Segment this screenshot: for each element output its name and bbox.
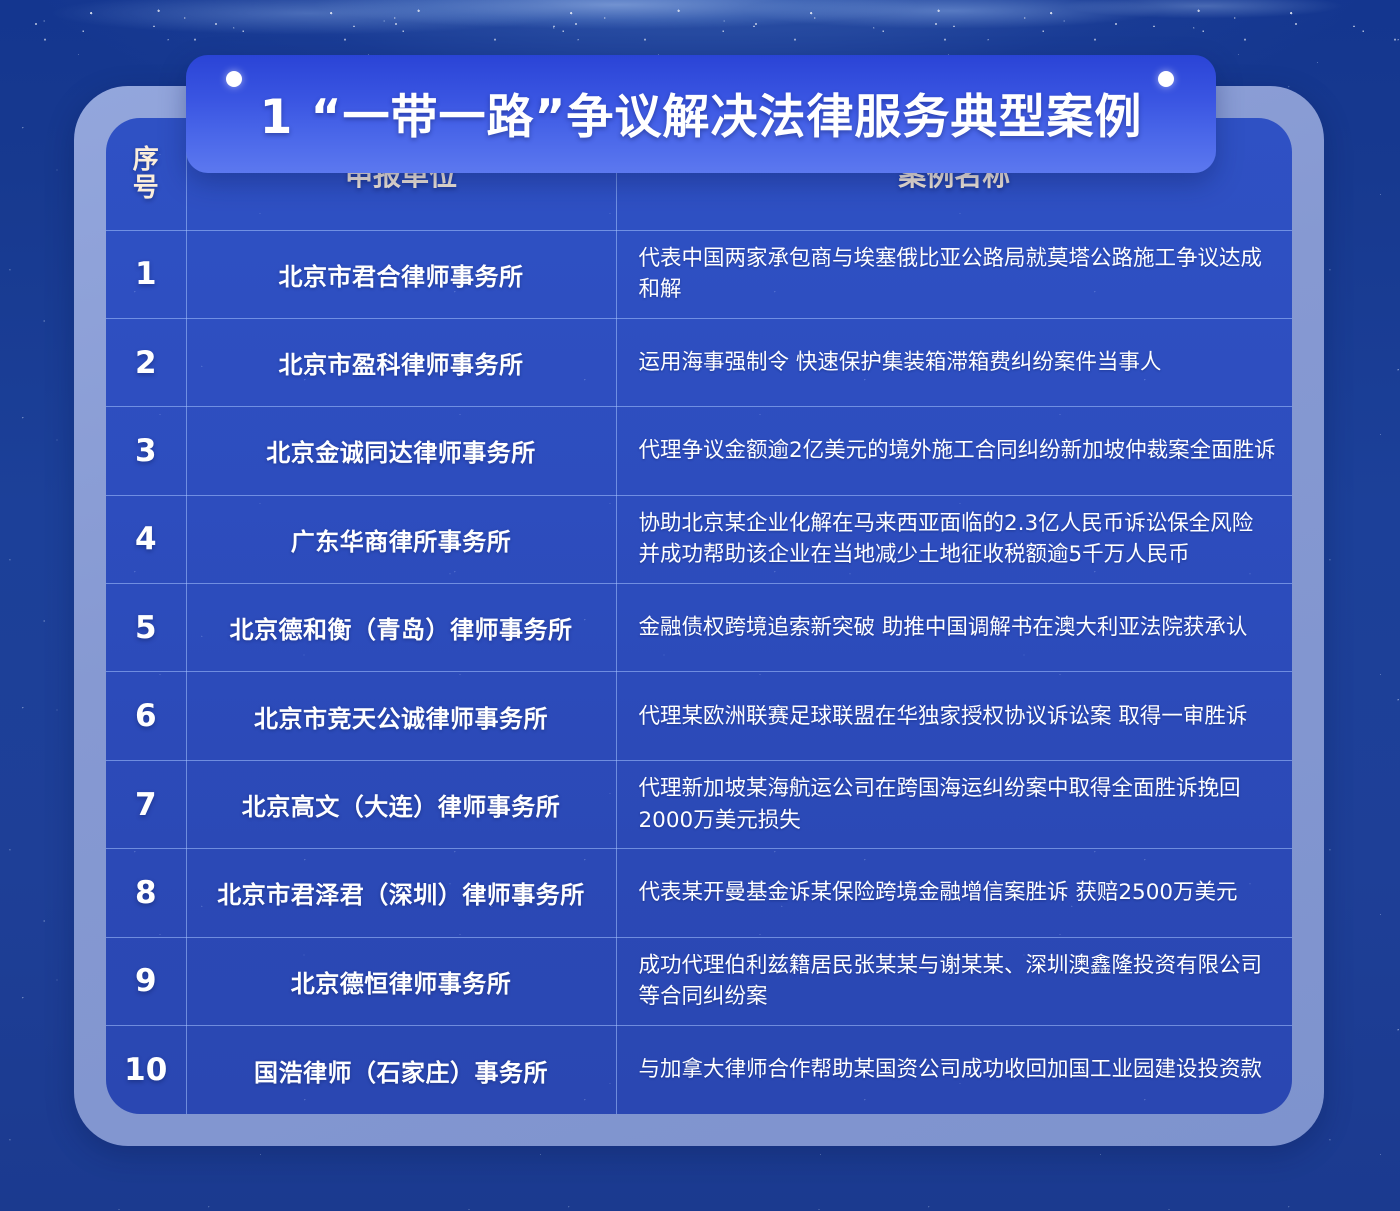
table-row: 6 北京市竞天公诚律师事务所 代理某欧洲联赛足球联盟在华独家授权协议诉讼案 取得… — [106, 672, 1292, 760]
table-row: 10 国浩律师（石家庄）事务所 与加拿大律师合作帮助某国资公司成功收回加国工业园… — [106, 1026, 1292, 1114]
table-row: 7 北京高文（大连）律师事务所 代理新加坡某海航运公司在跨国海运纠纷案中取得全面… — [106, 760, 1292, 848]
table-row: 8 北京市君泽君（深圳）律师事务所 代表某开曼基金诉某保险跨境金融增信案胜诉 获… — [106, 849, 1292, 937]
column-header-index: 序 号 — [106, 118, 186, 230]
column-header-index-line2: 号 — [106, 174, 186, 202]
table-row: 9 北京德恒律师事务所 成功代理伯利兹籍居民张某某与谢某某、深圳澳鑫隆投资有限公… — [106, 937, 1292, 1025]
cell-index: 3 — [106, 407, 186, 495]
table-panel: 序 号 申报单位 案例名称 1 北京市君合律师事务所 代表中国两家承包商与埃塞俄… — [106, 118, 1292, 1114]
table-row: 1 北京市君合律师事务所 代表中国两家承包商与埃塞俄比亚公路局就莫塔公路施工争议… — [106, 230, 1292, 318]
cell-case-name: 代理争议金额逾2亿美元的境外施工合同纠纷新加坡仲裁案全面胜诉 — [616, 407, 1292, 495]
top-wave-texture — [0, 0, 1400, 60]
cell-index: 9 — [106, 937, 186, 1025]
cell-organization: 北京市盈科律师事务所 — [186, 318, 616, 406]
title-banner: 1 “一带一路”争议解决法律服务典型案例 — [186, 55, 1216, 173]
cell-index: 4 — [106, 495, 186, 583]
cell-case-name: 代理某欧洲联赛足球联盟在华独家授权协议诉讼案 取得一审胜诉 — [616, 672, 1292, 760]
cell-case-name: 代表某开曼基金诉某保险跨境金融增信案胜诉 获赔2500万美元 — [616, 849, 1292, 937]
cell-case-name: 协助北京某企业化解在马来西亚面临的2.3亿人民币诉讼保全风险 并成功帮助该企业在… — [616, 495, 1292, 583]
cell-organization: 北京高文（大连）律师事务所 — [186, 760, 616, 848]
cell-index: 2 — [106, 318, 186, 406]
cell-case-name: 成功代理伯利兹籍居民张某某与谢某某、深圳澳鑫隆投资有限公司等合同纠纷案 — [616, 937, 1292, 1025]
cell-organization: 广东华商律所事务所 — [186, 495, 616, 583]
cell-organization: 北京金诚同达律师事务所 — [186, 407, 616, 495]
column-header-index-line1: 序 — [106, 146, 186, 174]
cell-organization: 北京市竞天公诚律师事务所 — [186, 672, 616, 760]
cell-case-name: 运用海事强制令 快速保护集装箱滞箱费纠纷案件当事人 — [616, 318, 1292, 406]
table-row: 4 广东华商律所事务所 协助北京某企业化解在马来西亚面临的2.3亿人民币诉讼保全… — [106, 495, 1292, 583]
cell-organization: 北京市君泽君（深圳）律师事务所 — [186, 849, 616, 937]
cell-case-name: 金融债权跨境追索新突破 助推中国调解书在澳大利亚法院获承认 — [616, 584, 1292, 672]
cell-organization: 北京市君合律师事务所 — [186, 230, 616, 318]
cell-organization: 北京德和衡（青岛）律师事务所 — [186, 584, 616, 672]
table-row: 5 北京德和衡（青岛）律师事务所 金融债权跨境追索新突破 助推中国调解书在澳大利… — [106, 584, 1292, 672]
cell-case-name: 与加拿大律师合作帮助某国资公司成功收回加国工业园建设投资款 — [616, 1026, 1292, 1114]
cases-table: 序 号 申报单位 案例名称 1 北京市君合律师事务所 代表中国两家承包商与埃塞俄… — [106, 118, 1292, 1114]
cell-index: 7 — [106, 760, 186, 848]
table-row: 3 北京金诚同达律师事务所 代理争议金额逾2亿美元的境外施工合同纠纷新加坡仲裁案… — [106, 407, 1292, 495]
table-row: 2 北京市盈科律师事务所 运用海事强制令 快速保护集装箱滞箱费纠纷案件当事人 — [106, 318, 1292, 406]
page-title: 1 “一带一路”争议解决法律服务典型案例 — [186, 55, 1216, 173]
cell-index: 1 — [106, 230, 186, 318]
cell-case-name: 代表中国两家承包商与埃塞俄比亚公路局就莫塔公路施工争议达成和解 — [616, 230, 1292, 318]
table-body: 1 北京市君合律师事务所 代表中国两家承包商与埃塞俄比亚公路局就莫塔公路施工争议… — [106, 230, 1292, 1114]
poster-canvas: 序 号 申报单位 案例名称 1 北京市君合律师事务所 代表中国两家承包商与埃塞俄… — [0, 0, 1400, 1211]
cell-index: 5 — [106, 584, 186, 672]
cell-organization: 北京德恒律师事务所 — [186, 937, 616, 1025]
cell-case-name: 代理新加坡某海航运公司在跨国海运纠纷案中取得全面胜诉挽回2000万美元损失 — [616, 760, 1292, 848]
cell-index: 8 — [106, 849, 186, 937]
cell-organization: 国浩律师（石家庄）事务所 — [186, 1026, 616, 1114]
cell-index: 10 — [106, 1026, 186, 1114]
cell-index: 6 — [106, 672, 186, 760]
